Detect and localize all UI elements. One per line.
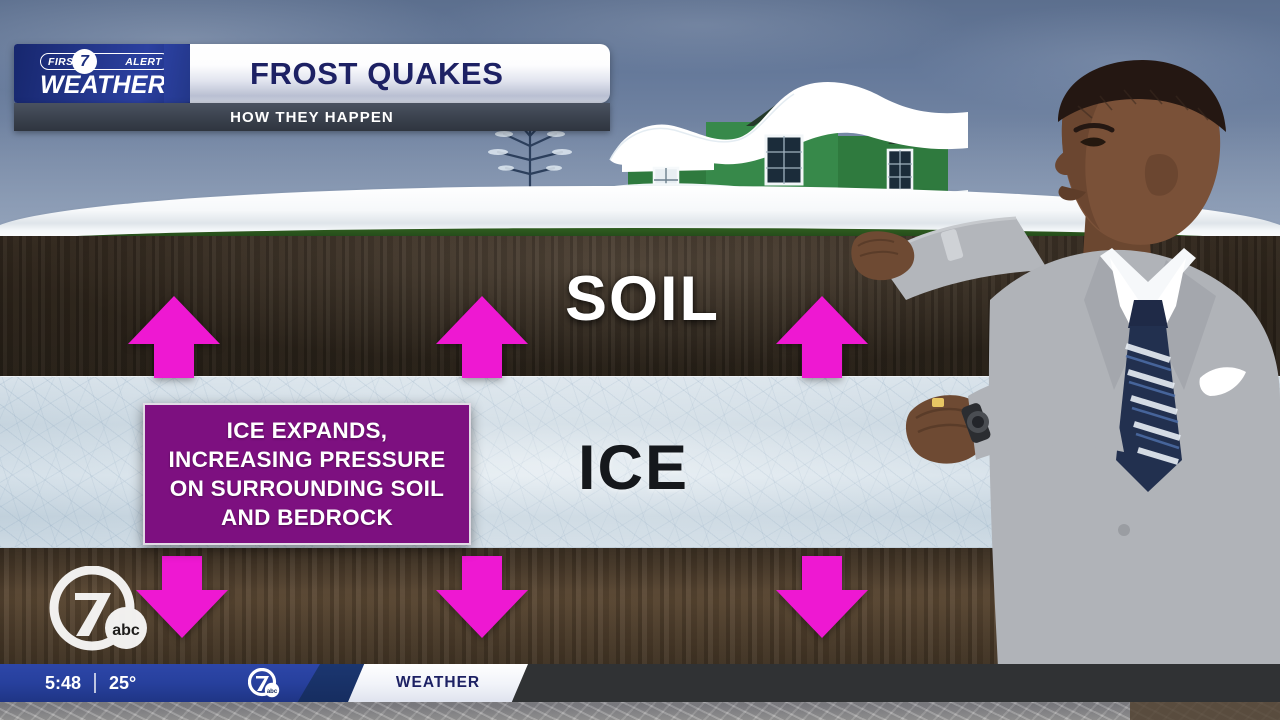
broadcast-screen: SOIL ICE ICE EXPANDS, INCREASING PRESSUR… (0, 0, 1280, 720)
meteorologist (848, 60, 1280, 668)
header-subtitle: HOW THEY HAPPEN (230, 109, 394, 126)
ice-label: ICE (578, 432, 689, 504)
logo-dot-icon (178, 77, 185, 84)
ticker-time-temp-group: 5:48 25° (45, 664, 136, 702)
ticker-time: 5:48 (45, 673, 81, 694)
ticker-divider (94, 673, 96, 693)
watermark-network-text: abc (112, 622, 140, 639)
pressure-arrow-up-1 (128, 296, 220, 378)
pressure-arrow-up-2 (436, 296, 528, 378)
callout-line-1: ICE EXPANDS, (169, 416, 446, 445)
lower-third-header: FROST QUAKES FIRST ALERT 7 WEATHER (14, 44, 610, 103)
ticker-station-logo: abc (248, 668, 280, 699)
logo-seven-text: 7 (80, 54, 89, 70)
header-subtitle-bar: HOW THEY HAPPEN (14, 103, 610, 131)
pressure-callout-box: ICE EXPANDS, INCREASING PRESSURE ON SURR… (143, 403, 471, 545)
logo-weather-text: WEATHER (40, 71, 166, 100)
header-title: FROST QUAKES (250, 44, 504, 103)
pressure-callout-text: ICE EXPANDS, INCREASING PRESSURE ON SURR… (161, 416, 454, 533)
callout-line-4: AND BEDROCK (169, 503, 446, 532)
first-alert-weather-logo: FIRST ALERT 7 WEATHER (14, 44, 190, 103)
soil-label: SOIL (565, 263, 720, 335)
callout-line-2: INCREASING PRESSURE (169, 445, 446, 474)
ticker-temperature: 25° (109, 673, 136, 694)
pressure-arrow-down-2 (436, 556, 528, 638)
ticker-network-text: abc (267, 689, 278, 695)
callout-line-3: ON SURROUNDING SOIL (169, 474, 446, 503)
ticker-section-label: WEATHER (348, 664, 528, 702)
first-alert-badge: FIRST ALERT (40, 53, 170, 70)
station-watermark: abc (48, 566, 154, 652)
logo-alert-text: ALERT (125, 56, 162, 68)
bottom-ticker-bar: 5:48 25° abc WEATHER (0, 664, 1280, 702)
